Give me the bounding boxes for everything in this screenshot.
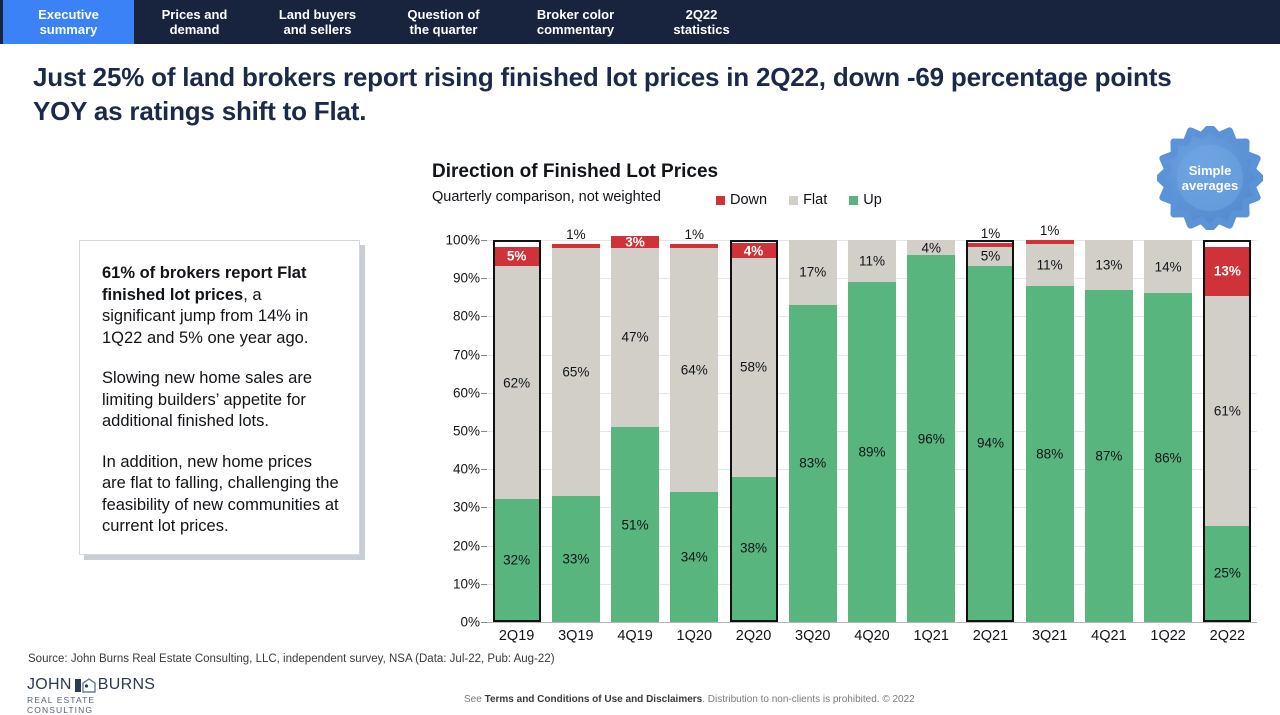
y-axis-tick-mark <box>481 316 487 317</box>
legend-label-up: Up <box>863 192 882 208</box>
bar-segment-up: 32% <box>495 499 539 620</box>
bar-segment-flat: 65% <box>552 248 600 496</box>
x-axis-tick-label: 2Q20 <box>730 628 778 644</box>
bar-segment-up-value-label: 94% <box>968 435 1012 450</box>
bar-segment-up-value-label: 89% <box>848 445 896 460</box>
bar-segment-down-value-label: 3% <box>611 234 659 249</box>
simple-averages-badge: Simple averages <box>1157 126 1263 230</box>
tab-question-of-the-quarter[interactable]: Question of the quarter <box>380 0 504 44</box>
chart-legend: Down Flat Up <box>716 192 882 208</box>
bar-segment-up: 34% <box>670 492 718 622</box>
disclaimer-terms-link[interactable]: Terms and Conditions of Use and Disclaim… <box>485 694 703 705</box>
y-axis-tick-label: 20% <box>432 538 480 553</box>
bar-segment-up-value-label: 88% <box>1026 446 1074 461</box>
bar-segment-up: 87% <box>1085 290 1133 622</box>
bar-segment-down: 13% <box>1205 247 1249 296</box>
company-logo: JOHN BURNS REAL ESTATE CONSULTING <box>27 676 157 708</box>
legend-item-up: Up <box>849 192 882 208</box>
bar-segment-flat-value-label: 4% <box>907 240 955 255</box>
y-axis-tick-mark <box>481 393 487 394</box>
legend-label-down: Down <box>730 192 767 208</box>
bar-segment-flat-value-label: 13% <box>1085 257 1133 272</box>
badge-line-1: Simple <box>1189 163 1232 178</box>
bar-4q21[interactable]: 87%13% <box>1085 240 1133 622</box>
x-axis-tick-label: 1Q20 <box>670 628 718 644</box>
bar-segment-down-value-label: 1% <box>968 226 1012 241</box>
top-navigation-bar: Executive summary Prices and demand Land… <box>0 0 1280 44</box>
y-axis-tick-label: 30% <box>432 500 480 515</box>
bar-segment-flat-value-label: 47% <box>611 330 659 345</box>
bar-segment-up-value-label: 32% <box>495 552 539 567</box>
bar-segment-flat: 62% <box>495 266 539 500</box>
tab-prices-and-demand[interactable]: Prices and demand <box>134 0 252 44</box>
logo-tagline: REAL ESTATE CONSULTING <box>27 695 157 715</box>
y-axis-tick-mark <box>481 546 487 547</box>
bar-segment-down-value-label: 13% <box>1205 264 1249 279</box>
bar-segment-flat-value-label: 62% <box>495 375 539 390</box>
bar-3q20[interactable]: 83%17% <box>789 240 837 622</box>
bar-segment-up: 33% <box>552 496 600 622</box>
y-axis-tick-mark <box>481 278 487 279</box>
x-axis-labels: 2Q193Q194Q191Q202Q203Q204Q201Q212Q213Q21… <box>487 628 1257 650</box>
bar-2q19[interactable]: 32%62%5% <box>493 240 541 622</box>
bar-segment-flat: 64% <box>670 248 718 492</box>
y-axis-tick-mark <box>481 507 487 508</box>
y-axis-tick-label: 100% <box>432 233 480 248</box>
bar-2q21[interactable]: 94%5%1% <box>966 240 1014 622</box>
legend-item-down: Down <box>716 192 767 208</box>
legend-label-flat: Flat <box>803 192 827 208</box>
tab-executive-summary[interactable]: Executive summary <box>0 0 134 44</box>
bar-3q19[interactable]: 33%65%1% <box>552 240 600 622</box>
badge-line-2: averages <box>1182 178 1238 193</box>
bar-segment-up-value-label: 34% <box>670 550 718 565</box>
x-axis-tick-label: 1Q22 <box>1144 628 1192 644</box>
y-axis-tick-mark <box>481 469 487 470</box>
bar-segment-flat: 13% <box>1085 240 1133 290</box>
chart-title: Direction of Finished Lot Prices <box>432 161 718 183</box>
x-axis-tick-label: 2Q19 <box>493 628 541 644</box>
bar-segment-up: 83% <box>789 305 837 622</box>
bar-segment-flat: 58% <box>732 258 776 477</box>
bar-segment-flat-value-label: 58% <box>732 360 776 375</box>
bar-segment-down: 1% <box>552 244 600 248</box>
x-axis-tick-label: 3Q20 <box>789 628 837 644</box>
bar-segment-flat: 61% <box>1205 296 1249 526</box>
disclaimer-note: See Terms and Conditions of Use and Disc… <box>464 694 915 705</box>
chart-plot-area: 32%62%5%33%65%1%51%47%3%34%64%1%38%58%4%… <box>487 240 1257 622</box>
bar-segment-flat: 5% <box>968 247 1012 266</box>
bar-segment-up-value-label: 25% <box>1205 565 1249 580</box>
bar-1q22[interactable]: 86%14% <box>1144 240 1192 622</box>
tab-land-buyers-and-sellers[interactable]: Land buyers and sellers <box>252 0 380 44</box>
legend-item-flat: Flat <box>789 192 827 208</box>
y-axis-tick-label: 40% <box>432 462 480 477</box>
y-axis-tick-mark <box>481 355 487 356</box>
bar-segment-flat-value-label: 61% <box>1205 403 1249 418</box>
bar-segment-down: 5% <box>495 247 539 266</box>
bar-segment-up: 25% <box>1205 526 1249 620</box>
bar-1q21[interactable]: 96%4% <box>907 240 955 622</box>
bar-segment-up: 38% <box>732 477 776 620</box>
tab-broker-color-commentary[interactable]: Broker color commentary <box>504 0 644 44</box>
y-axis-tick-label: 0% <box>432 615 480 630</box>
bar-segment-down: 3% <box>611 236 659 247</box>
y-axis-tick-label: 50% <box>432 424 480 439</box>
bar-segment-flat-value-label: 11% <box>1026 257 1074 272</box>
y-axis-tick-mark <box>481 622 487 623</box>
chart-subtitle: Quarterly comparison, not weighted <box>432 189 661 205</box>
tab-2q22-statistics[interactable]: 2Q22 statistics <box>644 0 756 44</box>
y-axis-labels: 0%10%20%30%40%50%60%70%80%90%100% <box>432 240 480 622</box>
x-axis-line <box>487 622 1257 623</box>
bar-segment-up: 89% <box>848 282 896 622</box>
legend-swatch-up <box>849 196 858 205</box>
y-axis-tick-label: 80% <box>432 309 480 324</box>
bar-segment-down: 4% <box>732 243 776 258</box>
bar-1q20[interactable]: 34%64%1% <box>670 240 718 622</box>
callout-bold-lead: 61% of brokers report Flat finished lot … <box>102 264 306 304</box>
y-axis-tick-label: 60% <box>432 385 480 400</box>
bar-segment-up: 86% <box>1144 293 1192 622</box>
bar-segment-down-value-label: 1% <box>670 227 718 242</box>
y-axis-tick-mark <box>481 431 487 432</box>
x-axis-tick-label: 3Q21 <box>1026 628 1074 644</box>
legend-swatch-flat <box>789 196 798 205</box>
bar-segment-up-value-label: 33% <box>552 551 600 566</box>
bar-segment-flat-value-label: 17% <box>789 265 837 280</box>
bar-segment-down: 1% <box>670 244 718 248</box>
x-axis-tick-label: 4Q20 <box>848 628 896 644</box>
page-title: Just 25% of land brokers report rising f… <box>33 60 1193 128</box>
y-axis-tick-mark <box>481 240 487 241</box>
bar-segment-flat: 11% <box>848 240 896 282</box>
x-axis-tick-label: 4Q19 <box>611 628 659 644</box>
bar-2q20[interactable]: 38%58%4% <box>730 240 778 622</box>
bar-segment-down-value-label: 1% <box>552 227 600 242</box>
x-axis-tick-label: 2Q21 <box>966 628 1014 644</box>
callout-paragraph-2: Slowing new home sales are limiting buil… <box>102 368 339 433</box>
bar-segment-flat-value-label: 65% <box>552 364 600 379</box>
x-axis-tick-label: 4Q21 <box>1085 628 1133 644</box>
bar-segment-down-value-label: 1% <box>1026 223 1074 238</box>
callout-paragraph-3: In addition, new home prices are flat to… <box>102 452 339 538</box>
source-note: Source: John Burns Real Estate Consultin… <box>28 653 555 665</box>
bar-4q20[interactable]: 89%11% <box>848 240 896 622</box>
bar-4q19[interactable]: 51%47%3% <box>611 240 659 622</box>
bar-3q21[interactable]: 88%11%1% <box>1026 240 1074 622</box>
bar-segment-down-value-label: 5% <box>495 249 539 264</box>
y-axis-tick-label: 10% <box>432 576 480 591</box>
y-axis-tick-label: 90% <box>432 271 480 286</box>
bar-segment-up-value-label: 83% <box>789 456 837 471</box>
bar-segment-flat-value-label: 5% <box>968 249 1012 264</box>
bar-segment-flat: 4% <box>907 240 955 255</box>
bar-segment-down-value-label: 4% <box>732 243 776 258</box>
bar-segment-flat: 17% <box>789 240 837 305</box>
bar-segment-down: 1% <box>968 243 1012 247</box>
bar-segment-flat-value-label: 11% <box>848 254 896 269</box>
bar-segment-up-value-label: 87% <box>1085 448 1133 463</box>
legend-swatch-down <box>716 196 725 205</box>
bar-segment-up-value-label: 96% <box>907 431 955 446</box>
bar-segment-up: 88% <box>1026 286 1074 622</box>
bar-segment-up-value-label: 86% <box>1144 450 1192 465</box>
x-axis-tick-label: 2Q22 <box>1203 628 1251 644</box>
logo-wordmark: JOHN BURNS <box>27 676 157 694</box>
bar-segment-down: 1% <box>1026 240 1074 244</box>
bar-segment-flat: 11% <box>1026 244 1074 286</box>
y-axis-tick-label: 70% <box>432 347 480 362</box>
disclaimer-post: . Distribution to non-clients is prohibi… <box>702 694 914 705</box>
callout-paragraph-1: 61% of brokers report Flat finished lot … <box>102 263 339 349</box>
logo-burns: BURNS <box>98 676 156 694</box>
bar-segment-up-value-label: 38% <box>732 541 776 556</box>
bar-segment-flat: 47% <box>611 248 659 428</box>
callout-box: 61% of brokers report Flat finished lot … <box>79 240 360 555</box>
nav-divider <box>0 44 1280 47</box>
bar-segment-up-value-label: 51% <box>611 517 659 532</box>
bar-segment-flat: 14% <box>1144 240 1192 293</box>
x-axis-tick-label: 1Q21 <box>907 628 955 644</box>
bar-segment-flat-value-label: 64% <box>670 362 718 377</box>
bar-segment-up: 96% <box>907 255 955 622</box>
disclaimer-pre: See <box>464 694 485 705</box>
bar-segment-up: 51% <box>611 427 659 622</box>
bar-segment-up: 94% <box>968 266 1012 620</box>
bar-2q22[interactable]: 25%61%13% <box>1203 240 1251 622</box>
logo-john: JOHN <box>27 676 72 694</box>
x-axis-tick-label: 3Q19 <box>552 628 600 644</box>
bar-segment-flat-value-label: 14% <box>1144 259 1192 274</box>
logo-house-icon <box>74 678 96 693</box>
y-axis-tick-mark <box>481 584 487 585</box>
